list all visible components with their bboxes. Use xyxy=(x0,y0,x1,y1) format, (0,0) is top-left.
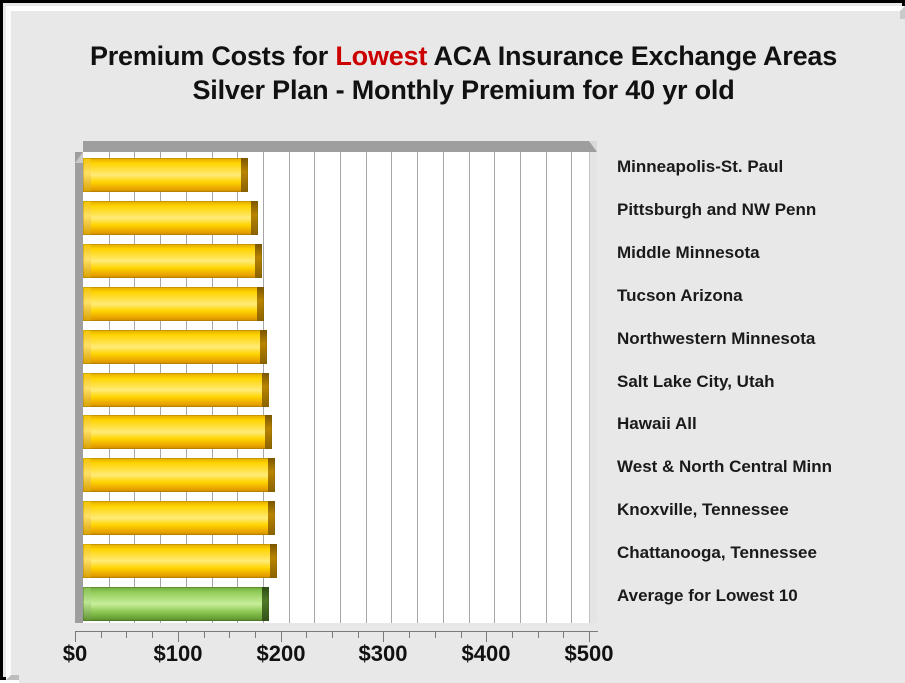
category-label-3: Tucson Arizona xyxy=(617,286,743,306)
bar-body xyxy=(83,415,266,449)
plot-floor xyxy=(83,152,589,623)
plot-rightwall-3d xyxy=(589,152,597,623)
bar-body xyxy=(83,501,269,535)
bar-10[interactable] xyxy=(83,587,269,621)
bar-right-face-3d xyxy=(265,415,272,449)
gridline xyxy=(314,152,315,623)
chart-title-part1: Premium Costs for xyxy=(90,41,335,71)
x-tick-minor xyxy=(435,632,436,638)
gridline xyxy=(443,152,444,623)
category-label-7: West & North Central Minn xyxy=(617,457,832,477)
bar-left-bevel xyxy=(83,501,91,535)
gridline xyxy=(546,152,547,623)
bar-right-face-3d xyxy=(251,201,258,235)
plot-sidewall-top-3d xyxy=(75,152,83,163)
gridline xyxy=(391,152,392,623)
bar-body xyxy=(83,244,256,278)
bar-3[interactable] xyxy=(83,287,264,321)
bar-left-bevel xyxy=(83,415,91,449)
x-tick-label-4: $400 xyxy=(436,641,536,667)
chart-title-highlight: Lowest xyxy=(335,41,427,71)
bar-left-bevel xyxy=(83,587,91,621)
bar-9[interactable] xyxy=(83,544,277,578)
x-tick-minor xyxy=(538,632,539,638)
bar-body xyxy=(83,287,258,321)
bar-2[interactable] xyxy=(83,244,262,278)
category-label-1: Pittsburgh and NW Penn xyxy=(617,200,816,220)
bar-body xyxy=(83,330,261,364)
x-tick-label-2: $200 xyxy=(231,641,331,667)
bar-1[interactable] xyxy=(83,201,258,235)
bar-left-bevel xyxy=(83,373,91,407)
chart-canvas: Premium Costs for Lowest ACA Insurance E… xyxy=(19,19,905,683)
bar-left-bevel xyxy=(83,201,91,235)
bar-right-face-3d xyxy=(262,373,269,407)
category-label-2: Middle Minnesota xyxy=(617,243,760,263)
bar-body xyxy=(83,201,252,235)
bar-left-bevel xyxy=(83,544,91,578)
x-tick-minor xyxy=(461,632,462,638)
bar-left-bevel xyxy=(83,458,91,492)
bar-body xyxy=(83,373,263,407)
x-tick-minor xyxy=(332,632,333,638)
chart-title: Premium Costs for Lowest ACA Insurance E… xyxy=(19,39,905,107)
bar-5[interactable] xyxy=(83,373,269,407)
gridline xyxy=(289,152,290,623)
x-tick-label-0: $0 xyxy=(25,641,125,667)
x-tick-minor xyxy=(229,632,230,638)
category-label-5: Salt Lake City, Utah xyxy=(617,372,774,392)
chart-bevel: Premium Costs for Lowest ACA Insurance E… xyxy=(6,6,905,680)
x-tick-minor xyxy=(306,632,307,638)
bar-right-face-3d xyxy=(270,544,277,578)
gridline xyxy=(520,152,521,623)
x-tick-minor xyxy=(126,632,127,638)
x-tick-label-3: $300 xyxy=(333,641,433,667)
gridline xyxy=(494,152,495,623)
bar-left-bevel xyxy=(83,287,91,321)
gridline xyxy=(340,152,341,623)
bar-body xyxy=(83,158,242,192)
bar-right-face-3d xyxy=(257,287,264,321)
chart-title-part2: ACA Insurance Exchange Areas xyxy=(427,41,837,71)
bar-4[interactable] xyxy=(83,330,267,364)
gridline xyxy=(417,152,418,623)
bar-right-face-3d xyxy=(268,458,275,492)
category-label-0: Minneapolis-St. Paul xyxy=(617,157,783,177)
plot-shelf-3d xyxy=(83,141,597,152)
category-label-8: Knoxville, Tennessee xyxy=(617,500,789,520)
bar-right-face-3d xyxy=(262,587,269,621)
category-label-9: Chattanooga, Tennessee xyxy=(617,543,817,563)
x-tick-minor xyxy=(204,632,205,638)
gridline xyxy=(571,152,572,623)
bar-left-bevel xyxy=(83,244,91,278)
x-tick-minor xyxy=(255,632,256,638)
bar-right-face-3d xyxy=(268,501,275,535)
gridline xyxy=(469,152,470,623)
category-label-6: Hawaii All xyxy=(617,414,697,434)
bar-left-bevel xyxy=(83,330,91,364)
x-axis-line xyxy=(75,631,598,632)
chart-title-line1: Premium Costs for Lowest ACA Insurance E… xyxy=(19,39,905,73)
category-label-4: Northwestern Minnesota xyxy=(617,329,815,349)
bar-right-face-3d xyxy=(260,330,267,364)
x-tick-minor xyxy=(152,632,153,638)
bar-right-face-3d xyxy=(241,158,248,192)
bar-6[interactable] xyxy=(83,415,272,449)
x-tick-label-1: $100 xyxy=(128,641,228,667)
bar-8[interactable] xyxy=(83,501,275,535)
x-tick-minor xyxy=(358,632,359,638)
bar-0[interactable] xyxy=(83,158,248,192)
x-tick-minor xyxy=(101,632,102,638)
bar-body xyxy=(83,544,271,578)
bar-7[interactable] xyxy=(83,458,275,492)
x-tick-minor xyxy=(512,632,513,638)
gridline xyxy=(366,152,367,623)
plot-area xyxy=(75,141,597,623)
chart-subtitle: Silver Plan - Monthly Premium for 40 yr … xyxy=(19,73,905,107)
x-tick-minor xyxy=(563,632,564,638)
x-tick-label-5: $500 xyxy=(539,641,639,667)
x-tick-minor xyxy=(409,632,410,638)
category-label-10: Average for Lowest 10 xyxy=(617,586,798,606)
chart-frame: Premium Costs for Lowest ACA Insurance E… xyxy=(0,0,905,680)
bar-body xyxy=(83,587,263,621)
bar-body xyxy=(83,458,269,492)
plot-sidewall-3d xyxy=(75,152,83,623)
bar-right-face-3d xyxy=(255,244,262,278)
bar-left-bevel xyxy=(83,158,91,192)
